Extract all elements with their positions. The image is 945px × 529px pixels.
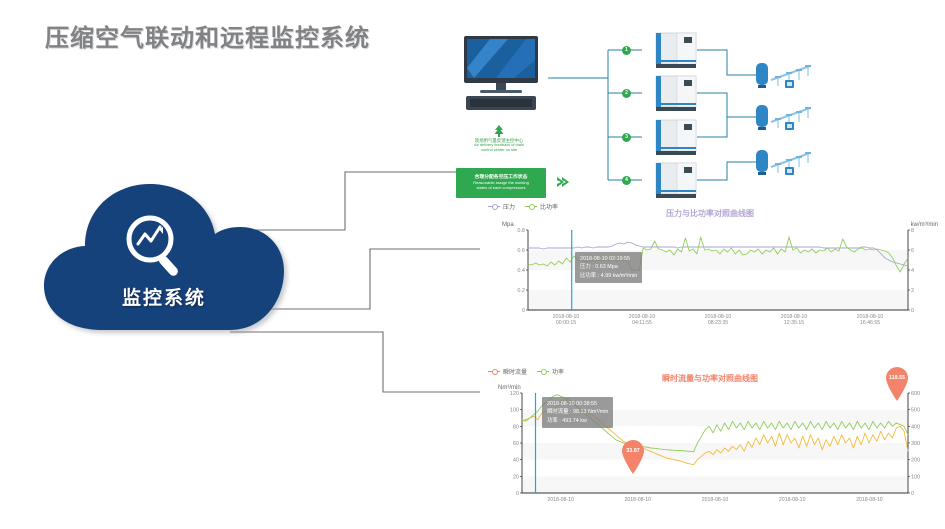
svg-text:120: 120 [510, 391, 519, 397]
chart1-tooltip-row1: 压力 : 0.63 Mpa [580, 263, 637, 271]
air-compressor-unit [655, 161, 695, 199]
svg-text:8: 8 [911, 228, 914, 234]
chart2-pin-max-label: 118.55 [884, 375, 910, 381]
chart2-tooltip-row2: 功率 : 493.74 kw [547, 417, 608, 425]
chart2-plot-area: 12010080604020060050040030020010002018-0… [480, 365, 940, 529]
svg-text:04:11:55: 04:11:55 [632, 320, 652, 326]
chart2-pin-min: 33.87 [620, 440, 646, 474]
chart2-tooltip-row1: 瞬时流量 : 98.13 Nm³/min [547, 408, 608, 416]
center-label-en2: control center on site [438, 148, 560, 152]
svg-text:20: 20 [513, 474, 519, 480]
chart2-pin-max: 118.55 [884, 367, 910, 401]
pressure-power-chart[interactable]: 压力 比功率 压力与比功率对照曲线图 Mpa kw/m³/min 0.80.60… [480, 200, 940, 340]
svg-text:80: 80 [513, 424, 519, 430]
node-number-1: 1 [622, 46, 631, 55]
svg-text:0: 0 [911, 491, 914, 497]
svg-text:0.6: 0.6 [517, 248, 525, 254]
svg-text:16:46:55: 16:46:55 [860, 320, 880, 326]
slide-canvas: 压缩空气联动和远程监控系统 监控系统 [0, 0, 945, 529]
svg-text:0: 0 [516, 491, 519, 497]
green-box-en2: states of each compressors [477, 186, 526, 191]
svg-text:2: 2 [911, 288, 914, 294]
svg-text:300: 300 [911, 441, 920, 447]
svg-text:2018-08-10: 2018-08-10 [856, 497, 883, 503]
svg-text:2018-08-10: 2018-08-10 [702, 497, 729, 503]
center-feedback-label: 现场用气量反馈主控中心 Air delivery feedback of mai… [438, 138, 560, 152]
svg-text:0.8: 0.8 [517, 228, 525, 234]
air-tank-pipeline-group [754, 58, 814, 90]
air-compressor-unit [655, 74, 695, 112]
air-compressor-unit [655, 31, 695, 69]
svg-text:200: 200 [911, 458, 920, 464]
svg-text:2018-08-10: 2018-08-10 [779, 497, 806, 503]
topology-diagram: 现场用气量反馈主控中心 Air delivery feedback of mai… [436, 20, 936, 200]
air-tank-pipeline-group [754, 100, 814, 132]
chart1-tooltip-row2: 比功率 : 4.99 kw/m³/min [580, 272, 637, 280]
svg-text:00:00:15: 00:00:15 [556, 320, 576, 326]
chart2-tooltip: 2018-08-10 00:38:55 瞬时流量 : 98.13 Nm³/min… [542, 397, 613, 428]
svg-text:60: 60 [513, 441, 519, 447]
tree-icon [492, 124, 506, 138]
node-number-3: 3 [622, 133, 631, 142]
svg-text:400: 400 [911, 424, 920, 430]
svg-text:40: 40 [513, 458, 519, 464]
svg-text:12:35:15: 12:35:15 [784, 320, 804, 326]
svg-text:0.4: 0.4 [517, 268, 525, 274]
air-tank-pipeline-group [754, 145, 814, 177]
chart1-tooltip-time: 2018-08-10 02:19:55 [580, 255, 637, 263]
svg-text:600: 600 [911, 391, 920, 397]
svg-text:2018-08-10: 2018-08-10 [625, 497, 652, 503]
chart1-tooltip: 2018-08-10 02:19:55 压力 : 0.63 Mpa 比功率 : … [575, 252, 642, 283]
svg-text:0: 0 [522, 308, 525, 314]
cloud-label: 监控系统 [38, 283, 290, 310]
chart2-pin-min-label: 33.87 [620, 448, 646, 454]
chart2-tooltip-time: 2018-08-10 00:38:55 [547, 400, 608, 408]
svg-text:4: 4 [911, 268, 914, 274]
svg-text:2018-08-10: 2018-08-10 [547, 497, 574, 503]
allocation-note-box: 合理分配各空压工作状态 Reasonable assign the workin… [456, 168, 546, 198]
chart1-plot-area: 0.80.60.40.20864202018-08-1000:00:152018… [480, 200, 940, 340]
flow-power-chart[interactable]: 瞬时流量 功率 瞬时流量与功率对照曲线图 Nm³/min 12010080604… [480, 365, 940, 529]
computer-monitor-icon [456, 34, 546, 116]
node-number-2: 2 [622, 89, 631, 98]
air-compressor-unit [655, 118, 695, 156]
svg-text:500: 500 [911, 408, 920, 414]
svg-text:100: 100 [510, 408, 519, 414]
svg-text:08:23:35: 08:23:35 [708, 320, 728, 326]
node-number-4: 4 [622, 176, 631, 185]
svg-text:100: 100 [911, 474, 920, 480]
svg-text:0: 0 [911, 308, 914, 314]
magnifier-chart-icon [120, 212, 192, 280]
svg-text:0.2: 0.2 [517, 288, 525, 294]
right-arrow-icon [556, 175, 570, 189]
page-title: 压缩空气联动和远程监控系统 [45, 18, 370, 53]
svg-text:6: 6 [911, 248, 914, 254]
